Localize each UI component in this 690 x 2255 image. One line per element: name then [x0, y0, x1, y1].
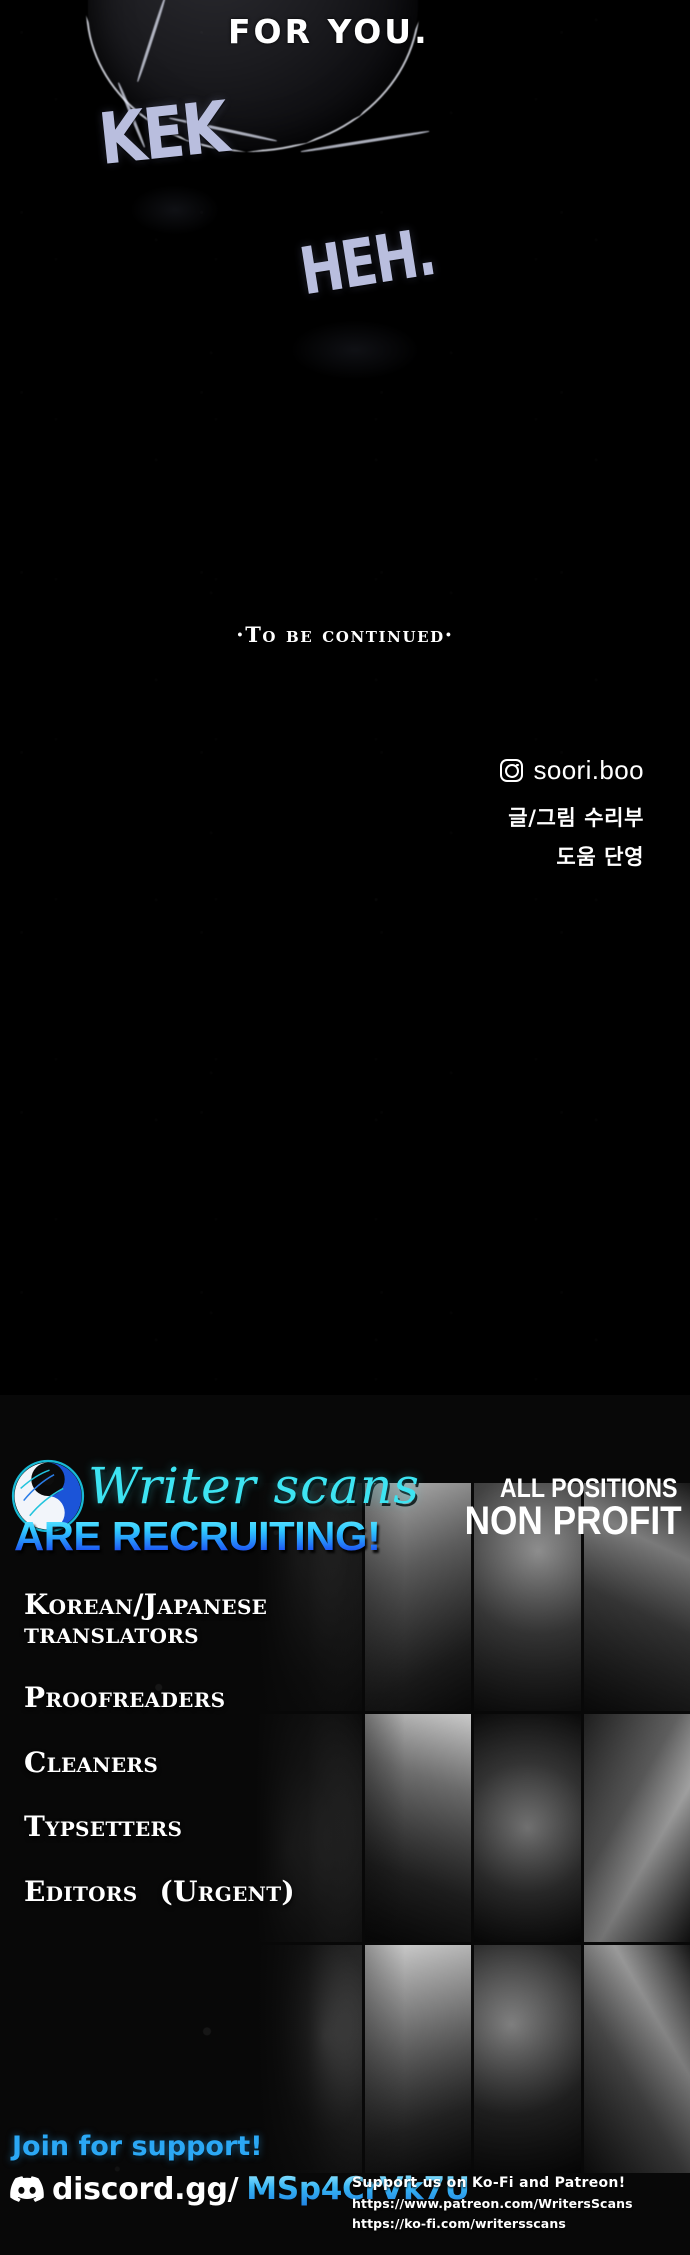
kofi-url[interactable]: https://ko-fi.com/writersscans [352, 2216, 682, 2231]
comic-panel: FOR YOU. KEK HEH. ·To be continued· soor… [0, 0, 690, 1395]
collage-column [365, 1483, 472, 2173]
position-item: Cleaners [24, 1749, 274, 1778]
haze-glow [290, 320, 420, 380]
position-item: Editors(Urgent) [24, 1878, 274, 1907]
position-item: Typsetters [24, 1813, 274, 1842]
position-label: Korean/Japanese translators [24, 1588, 267, 1650]
recruitment-banner: Writer scans ALL POSITIONS NON PROFIT AR… [0, 1395, 690, 2255]
position-label: Cleaners [24, 1746, 158, 1779]
open-positions-list: Korean/Japanese translators Proofreaders… [24, 1591, 274, 1942]
position-item: Proofreaders [24, 1684, 274, 1713]
haze-glow [130, 185, 220, 235]
recruiting-headline: ARE RECRUITING! [14, 1513, 380, 1560]
non-profit-label: NON PROFIT [465, 1501, 682, 1541]
position-item: Korean/Japanese translators [24, 1591, 274, 1648]
collage-column [474, 1483, 581, 2173]
author-credit-line: 글/그림 수리부 [500, 802, 644, 832]
position-label: Editors [24, 1875, 138, 1908]
instagram-icon [500, 759, 523, 782]
join-for-support-text: Join for support! [12, 2131, 263, 2162]
discord-icon [10, 2176, 44, 2202]
support-title: Support us on Ko-Fi and Patreon! [352, 2175, 682, 2191]
position-label: Typsetters [24, 1810, 182, 1843]
support-block: Support us on Ko-Fi and Patreon! https:/… [352, 2175, 682, 2231]
credits-block: soori.boo 글/그림 수리부 도움 단영 [500, 755, 644, 871]
collage-cell [365, 1714, 472, 1942]
collage-cell [365, 1483, 472, 1711]
collage-cell [474, 1714, 581, 1942]
collage-column [584, 1483, 690, 2173]
position-note: (Urgent) [160, 1875, 295, 1908]
patreon-url[interactable]: https://www.patreon.com/WritersScans [352, 2196, 682, 2211]
paper-grain-texture [0, 0, 690, 1395]
position-label: Proofreaders [24, 1681, 225, 1714]
group-name-title: Writer scans [88, 1457, 420, 1515]
instagram-handle: soori.boo [533, 755, 644, 786]
dialogue-for-you: FOR YOU. [228, 12, 430, 51]
sfx-kek: KEK [95, 86, 231, 182]
sfx-heh: HEH. [295, 215, 439, 310]
instagram-credit-row: soori.boo [500, 755, 644, 786]
assistant-credit-line: 도움 단영 [500, 841, 644, 871]
artwork-collage [255, 1483, 690, 2173]
banner-footer: Join for support! discord.gg/ MSp4CrVk7U… [0, 2123, 690, 2255]
discord-url-prefix: discord.gg/ [52, 2172, 238, 2207]
collage-cell [584, 1714, 690, 1942]
to-be-continued-text: ·To be continued· [0, 622, 690, 647]
